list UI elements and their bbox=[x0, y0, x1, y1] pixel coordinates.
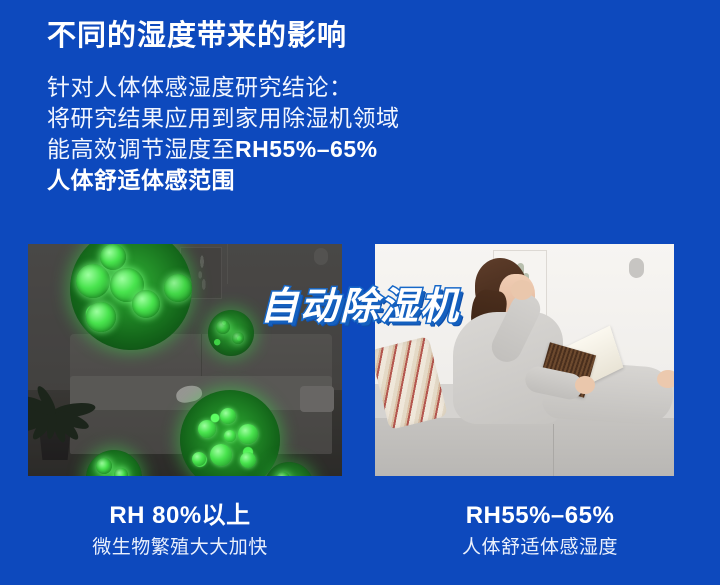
caption-right-subtitle: 人体舒适体感湿度 bbox=[360, 534, 720, 562]
page-title: 不同的湿度带来的影响 bbox=[47, 16, 720, 56]
microbe-cluster-icon bbox=[208, 310, 254, 356]
header-block: 不同的湿度带来的影响 针对人体体感湿度研究结论： 将研究结果应用到家用除湿机领域… bbox=[0, 0, 720, 196]
caption-right: RH55%–65% 人体舒适体感湿度 bbox=[360, 500, 720, 585]
woman-foot bbox=[657, 370, 674, 388]
intro-line-3: 能高效调节湿度至RH55%–65% bbox=[47, 134, 720, 165]
caption-left-subtitle: 微生物繁殖大大加快 bbox=[0, 534, 360, 562]
intro-line-3-highlight: RH55%–65% bbox=[235, 136, 378, 162]
photo-left-high-humidity bbox=[28, 244, 342, 476]
caption-right-title: RH55%–65% bbox=[360, 500, 720, 532]
woman-hand-on-head bbox=[511, 280, 533, 300]
caption-left: RH 80%以上 微生物繁殖大大加快 bbox=[0, 500, 360, 585]
caption-row: RH 80%以上 微生物繁殖大大加快 RH55%–65% 人体舒适体感湿度 bbox=[0, 500, 720, 585]
intro-text-block: 针对人体体感湿度研究结论： 将研究结果应用到家用除湿机领域 能高效调节湿度至RH… bbox=[47, 72, 720, 196]
photo-right-comfort-humidity bbox=[375, 244, 674, 476]
intro-line-3-prefix: 能高效调节湿度至 bbox=[47, 136, 235, 162]
intro-line-4: 人体舒适体感范围 bbox=[47, 165, 720, 196]
bright-room-illustration bbox=[375, 244, 674, 476]
photo-row bbox=[0, 244, 720, 476]
intro-line-2: 将研究结果应用到家用除湿机领域 bbox=[47, 103, 720, 134]
intro-line-1: 针对人体体感湿度研究结论： bbox=[47, 72, 720, 103]
dark-room-illustration bbox=[28, 244, 342, 476]
humidity-infographic-page: { "background_color": "#0d49bd", "header… bbox=[0, 0, 720, 585]
woman-hand-on-book bbox=[575, 376, 595, 394]
caption-left-title: RH 80%以上 bbox=[0, 500, 360, 532]
wall-lamp-icon bbox=[629, 258, 644, 278]
